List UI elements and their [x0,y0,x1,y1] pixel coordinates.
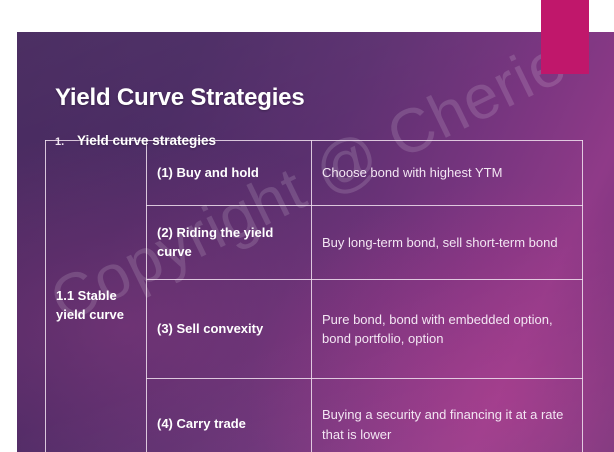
accent-rectangle [541,0,589,74]
yield-curve-strategy-table: 1.1 Stable yield curve (1) Buy and hold … [45,140,583,452]
slide-title: Yield Curve Strategies [55,84,304,112]
cell-strategy-4: (4) Carry trade [147,379,312,452]
cell-description-1: Choose bond with highest YTM [312,141,583,206]
slide-canvas: Copyright @ Cherie 1.1 Stable yield curv… [0,0,614,452]
cell-strategy-2: (2) Riding the yield curve [147,206,312,280]
cell-description-2: Buy long-term bond, sell short-term bond [312,206,583,280]
cell-strategy-3: (3) Sell convexity [147,280,312,379]
bullet-item: 1. Yield curve strategies [55,133,216,148]
cell-description-3: Pure bond, bond with embedded option, bo… [312,280,583,379]
cell-description-4: Buying a security and financing it at a … [312,379,583,452]
bullet-label: Yield curve strategies [77,133,216,148]
bullet-number: 1. [55,136,77,148]
slide-background: Copyright @ Cherie 1.1 Stable yield curv… [17,32,614,452]
table-row: 1.1 Stable yield curve (1) Buy and hold … [46,141,583,206]
cell-strategy-1: (1) Buy and hold [147,141,312,206]
cell-group-label: 1.1 Stable yield curve [46,141,147,452]
